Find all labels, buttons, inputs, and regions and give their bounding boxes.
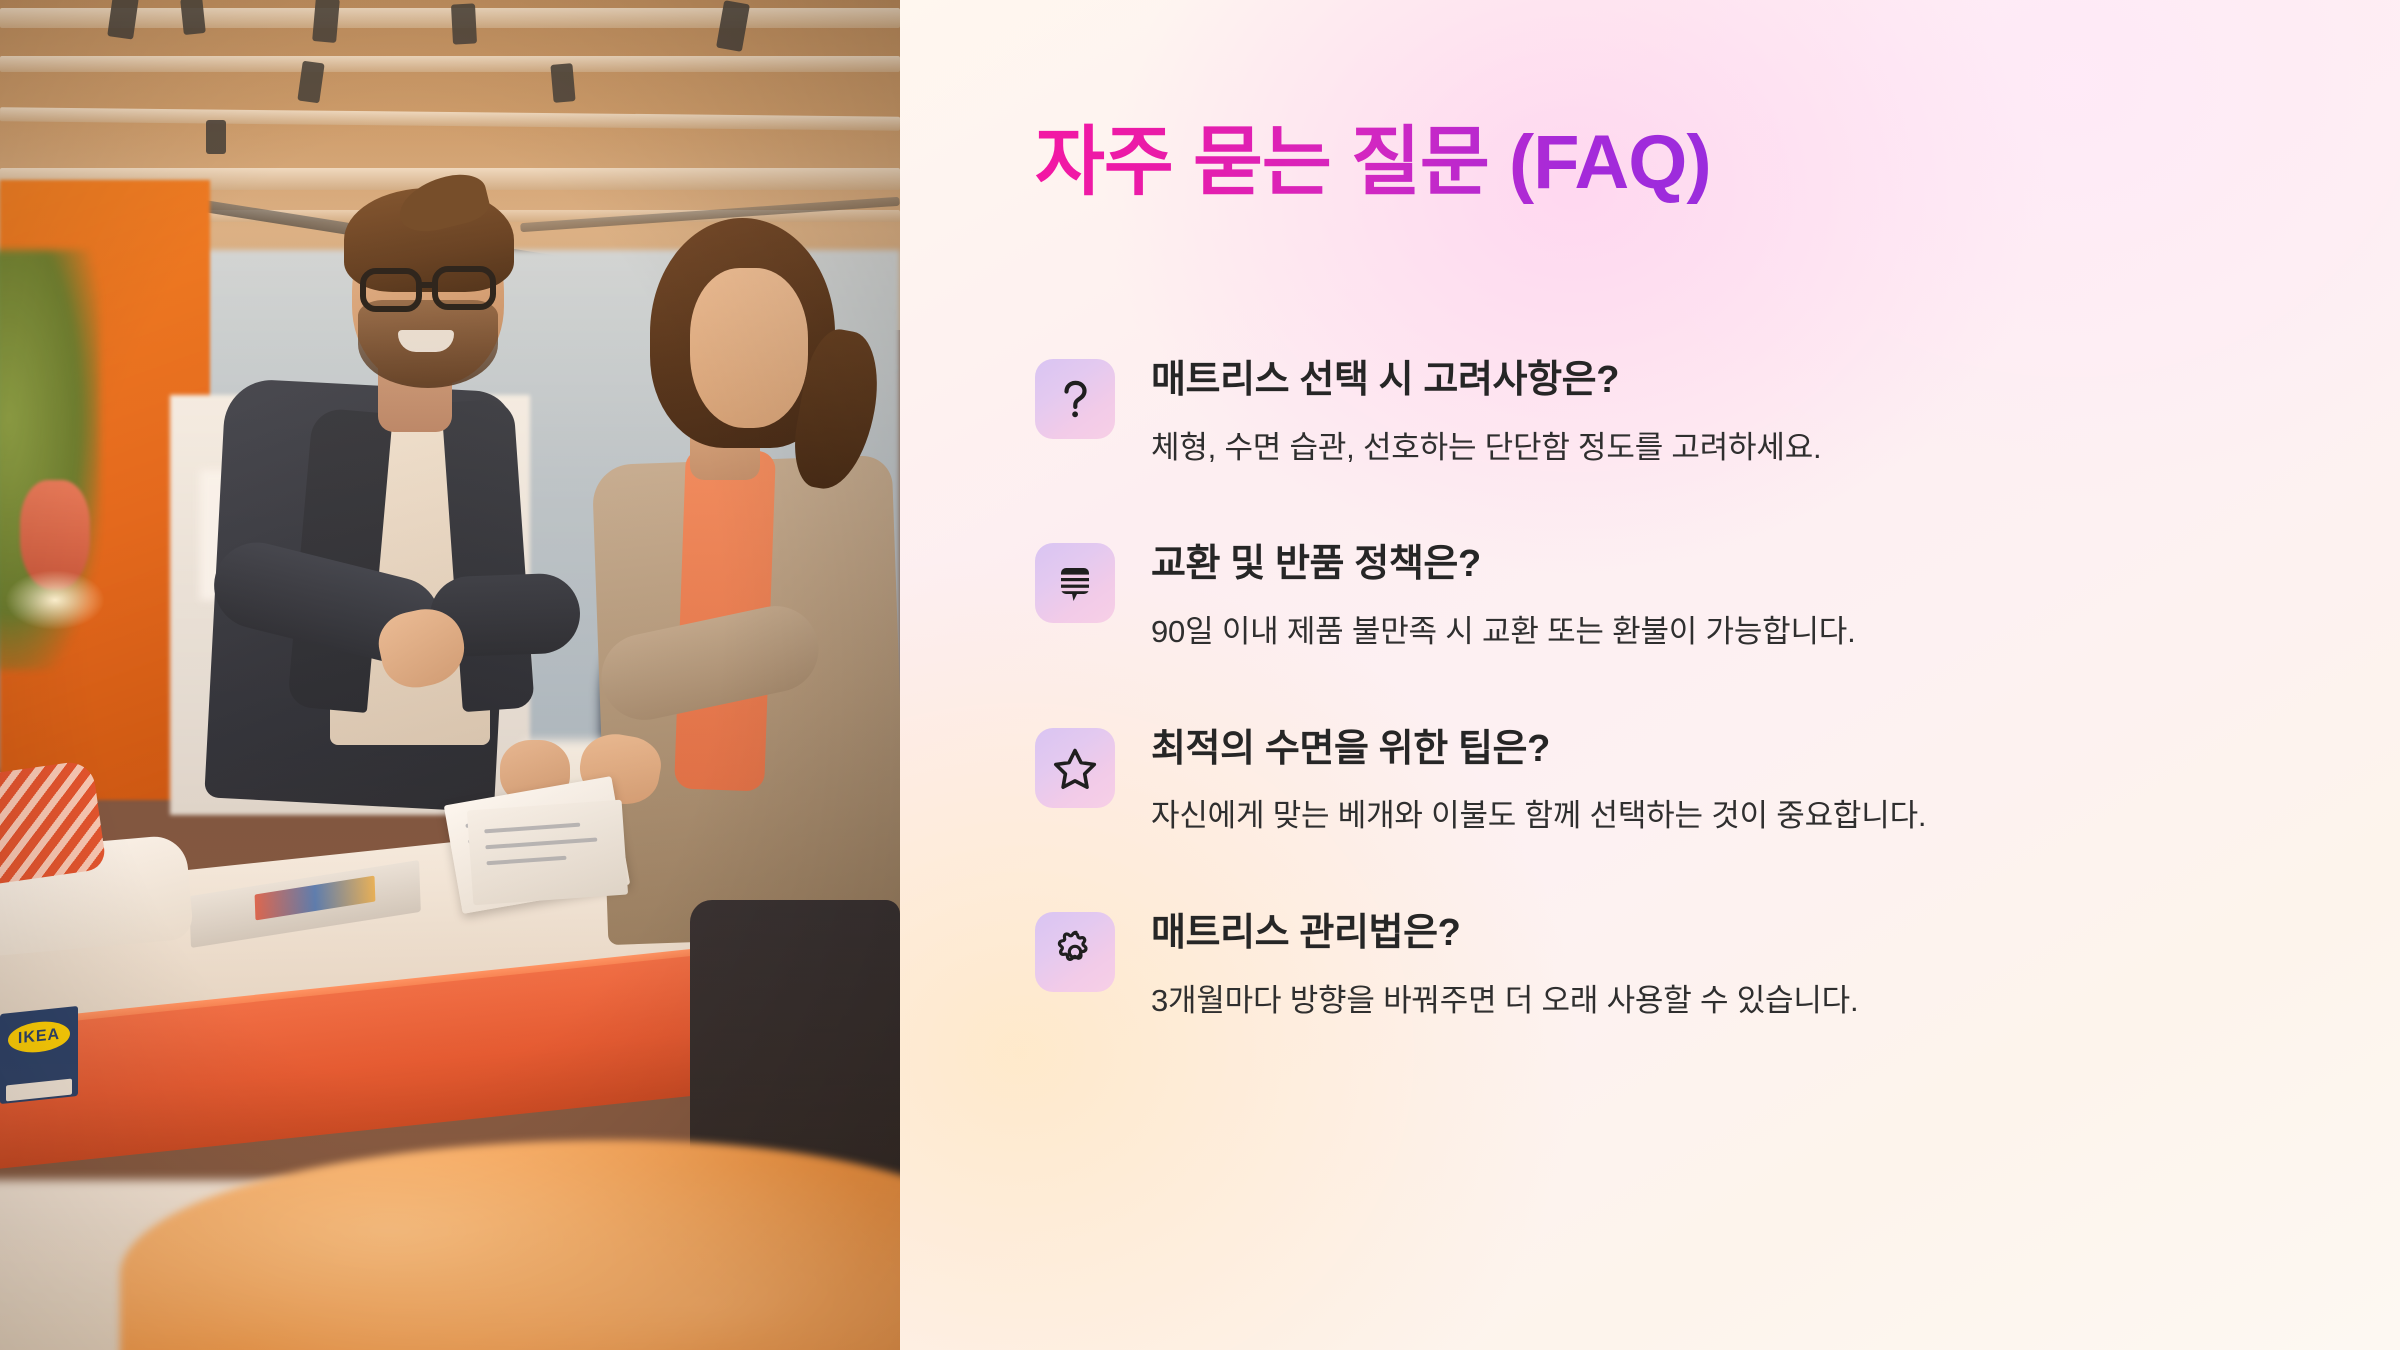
faq-question: 매트리스 선택 시 고려사항은? [1151,357,1821,405]
faq-text: 교환 및 반품 정책은? 90일 이내 제품 불만족 시 교환 또는 환불이 가… [1151,539,1856,652]
question-mark-icon [1052,376,1098,422]
faq-answer: 90일 이내 제품 불만족 시 교환 또는 환불이 가능합니다. [1151,611,1856,653]
faq-question: 교환 및 반품 정책은? [1151,541,1856,589]
store-photo: IKEA [0,0,900,1350]
faq-answer: 체형, 수면 습관, 선호하는 단단함 정도를 고려하세요. [1151,427,1821,469]
photo-vignette [0,0,900,1350]
faq-item[interactable]: 최적의 수면을 위한 팁은? 자신에게 맞는 베개와 이불도 함께 선택하는 것… [1035,724,2215,837]
faq-item[interactable]: 교환 및 반품 정책은? 90일 이내 제품 불만족 시 교환 또는 환불이 가… [1035,539,2215,652]
faq-question: 매트리스 관리법은? [1151,910,1858,958]
faq-slide: IKEA [0,0,2400,1350]
faq-answer: 자신에게 맞는 베개와 이불도 함께 선택하는 것이 중요합니다. [1151,795,1926,837]
chat-bubble-icon [1053,561,1097,605]
faq-text: 매트리스 관리법은? 3개월마다 방향을 바꿔주면 더 오래 사용할 수 있습니… [1151,908,1858,1021]
faq-text: 매트리스 선택 시 고려사항은? 체형, 수면 습관, 선호하는 단단함 정도를… [1151,355,1821,468]
faq-text: 최적의 수면을 위한 팁은? 자신에게 맞는 베개와 이불도 함께 선택하는 것… [1151,724,1926,837]
faq-list: 매트리스 선택 시 고려사항은? 체형, 수면 습관, 선호하는 단단함 정도를… [1035,355,2215,1021]
faq-icon-badge [1035,912,1115,992]
faq-item[interactable]: 매트리스 선택 시 고려사항은? 체형, 수면 습관, 선호하는 단단함 정도를… [1035,355,2215,468]
faq-answer: 3개월마다 방향을 바꿔주면 더 오래 사용할 수 있습니다. [1151,980,1858,1022]
page-title: 자주 묻는 질문 (FAQ) [1035,118,1711,208]
faq-icon-badge [1035,728,1115,808]
content-panel: 자주 묻는 질문 (FAQ) 매트리스 선택 시 고려사항은? 체형, 수면 습… [900,0,2400,1350]
gear-icon [1052,929,1098,975]
faq-icon-badge [1035,359,1115,439]
faq-question: 최적의 수면을 위한 팁은? [1151,726,1926,774]
star-icon [1052,745,1098,791]
faq-icon-badge [1035,543,1115,623]
faq-item[interactable]: 매트리스 관리법은? 3개월마다 방향을 바꿔주면 더 오래 사용할 수 있습니… [1035,908,2215,1021]
